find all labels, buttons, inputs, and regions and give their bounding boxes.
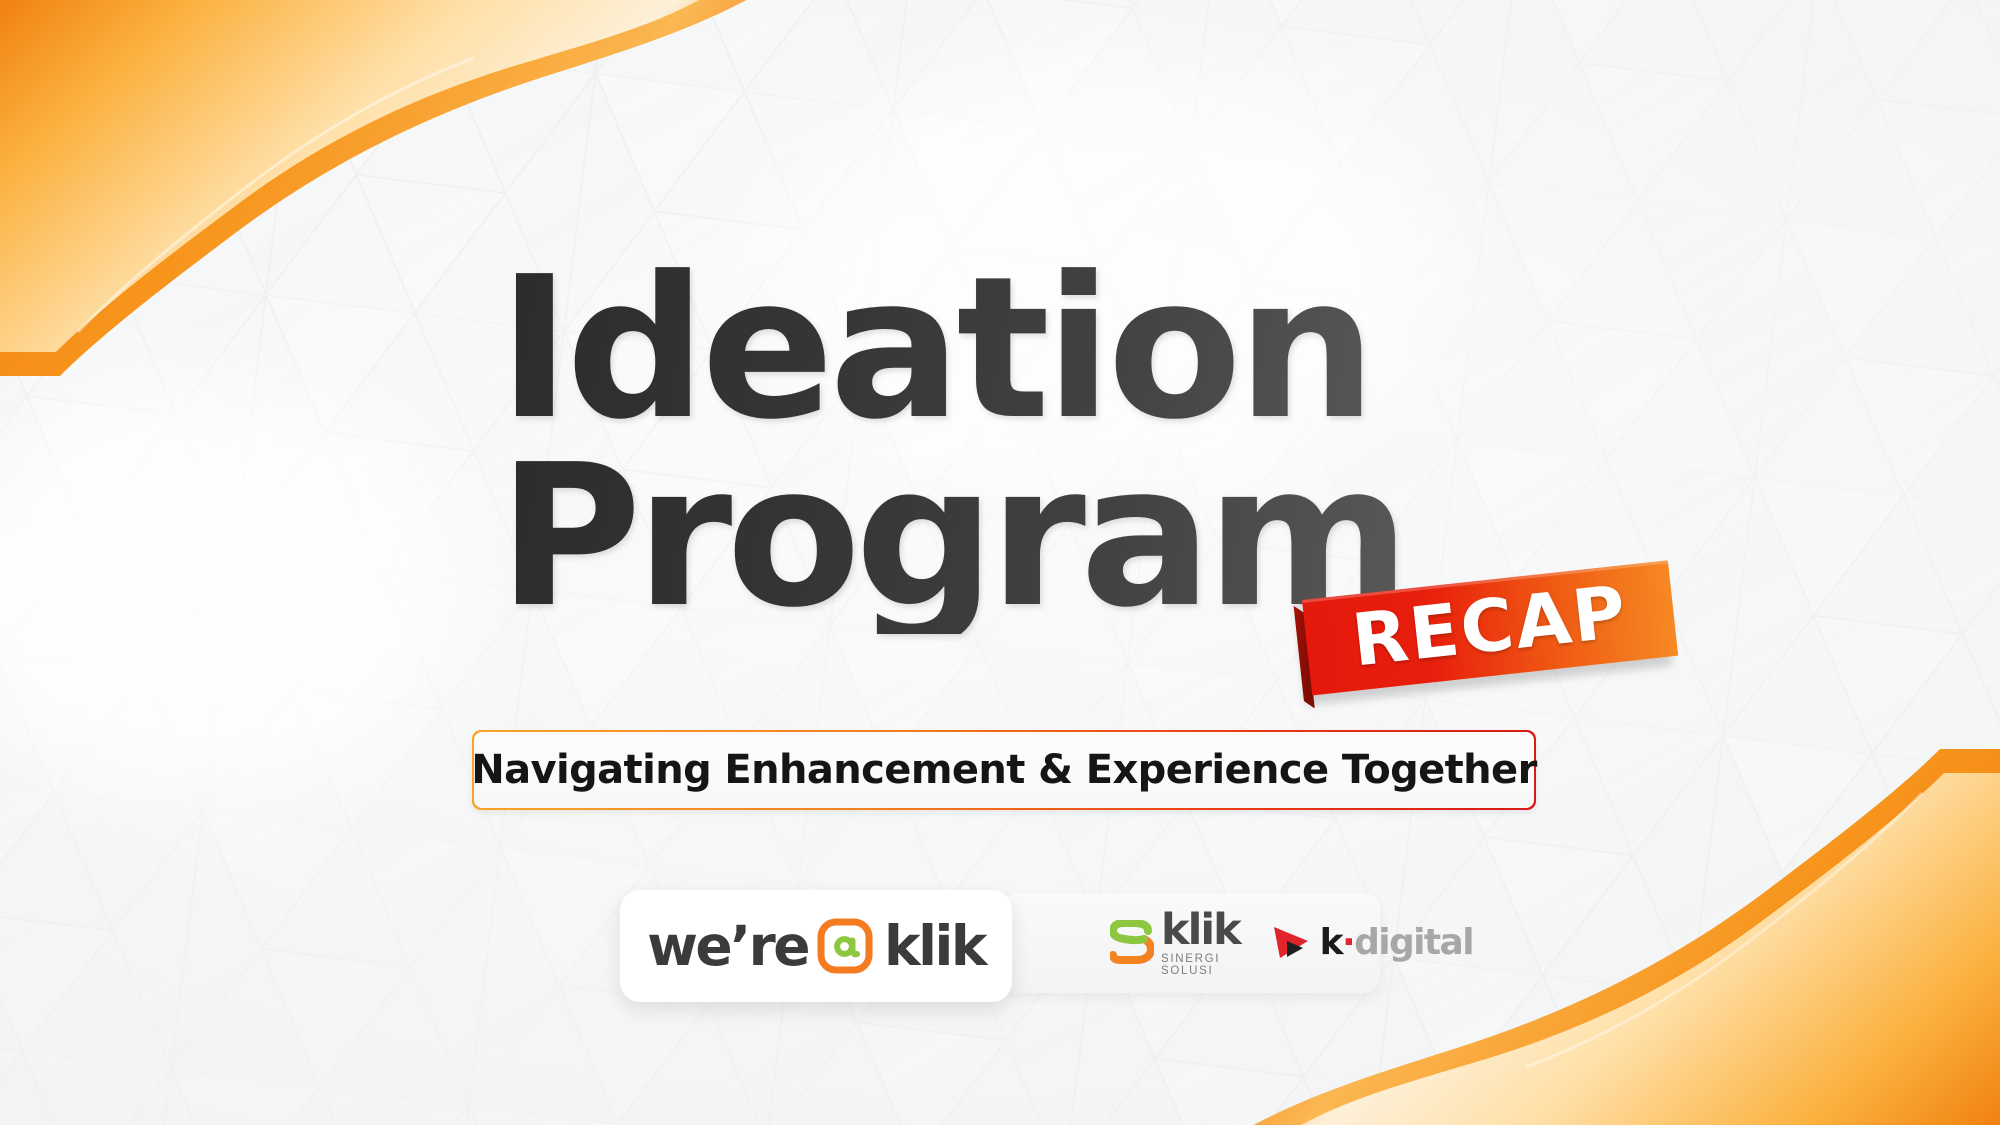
subtitle-text: Navigating Enhancement & Experience Toge… — [471, 747, 1536, 793]
partner-logo-strip: klik SINERGI SOLUSI k·digital — [1002, 893, 1380, 993]
subtitle-box: Navigating Enhancement & Experience Toge… — [472, 730, 1536, 810]
were-text: we’re — [647, 914, 808, 978]
k-digital-wordmark: k·digital — [1320, 925, 1473, 961]
logo-k-digital: k·digital — [1270, 922, 1473, 964]
at-sign-icon — [817, 918, 873, 974]
were-at-klik-wordmark: we’re klik — [647, 914, 985, 978]
klik-wordmark: klik — [1161, 909, 1240, 952]
title-line-1: Ideation — [498, 252, 1558, 446]
slide-canvas: Ideation Program RECAP Navigating Enhanc… — [0, 0, 2000, 1125]
klik-tagline: SINERGI SOLUSI — [1161, 954, 1239, 977]
k-digital-separator: · — [1342, 922, 1354, 963]
klik-text: klik — [884, 914, 985, 978]
subtitle-inner: Navigating Enhancement & Experience Toge… — [474, 732, 1534, 808]
play-triangle-icon — [1270, 922, 1312, 964]
light-blob-left — [0, 380, 460, 800]
logo-klik-sinergi-solusi: klik SINERGI SOLUSI — [1110, 909, 1240, 977]
s-swirl-icon — [1110, 920, 1154, 966]
page-title: Ideation Program — [498, 252, 1558, 634]
klik-wordmark-group: klik SINERGI SOLUSI — [1161, 909, 1240, 977]
k-digital-part2: digital — [1354, 922, 1473, 963]
logo-were-at-klik: we’re klik — [620, 890, 1012, 1002]
k-digital-part1: k — [1320, 922, 1342, 963]
